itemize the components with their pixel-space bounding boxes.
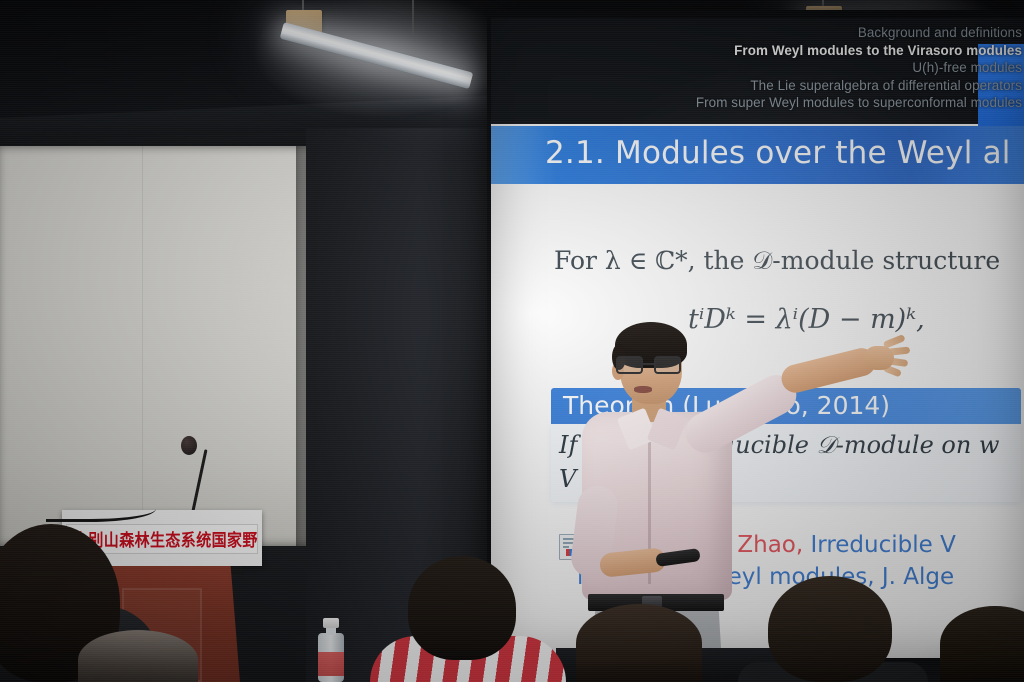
- eyeglasses-icon: [616, 356, 684, 375]
- left-wall-panel: [0, 146, 306, 546]
- nav-item-3[interactable]: The Lie superalgebra of differential ope…: [548, 77, 1022, 95]
- nav-item-0[interactable]: Background and definitions: [548, 24, 1022, 42]
- nav-item-2[interactable]: U(h)-free modules: [548, 59, 1022, 77]
- slide-navigation-bar: Background and definitions From Weyl mod…: [491, 18, 1024, 124]
- slide-title: 2.1. Modules over the Weyl al: [545, 135, 1011, 171]
- audience-member-4-head: [576, 604, 702, 682]
- audience-member-2-head: [78, 630, 198, 682]
- speaker-mouth: [634, 386, 652, 393]
- slide-navigation-list: Background and definitions From Weyl mod…: [548, 24, 1022, 112]
- slide-title-bar: 2.1. Modules over the Weyl al: [491, 126, 1024, 184]
- nav-item-1[interactable]: From Weyl modules to the Virasoro module…: [548, 42, 1022, 60]
- audience-member-5-head: [768, 576, 892, 682]
- pendant-light-left: [262, 2, 452, 86]
- slide-lead-text: For λ ∈ ℂ*, the 𝒟-module structure: [554, 246, 1000, 276]
- light-cable: [412, 0, 414, 38]
- speaker-pointing-hand: [860, 338, 900, 372]
- audience-member-3-head: [408, 556, 516, 660]
- microphone-head-icon: [181, 436, 197, 455]
- nav-item-4[interactable]: From super Weyl modules to superconforma…: [548, 94, 1022, 112]
- screenshot-root: Background and definitions From Weyl mod…: [0, 0, 1024, 682]
- water-bottle: [318, 618, 344, 682]
